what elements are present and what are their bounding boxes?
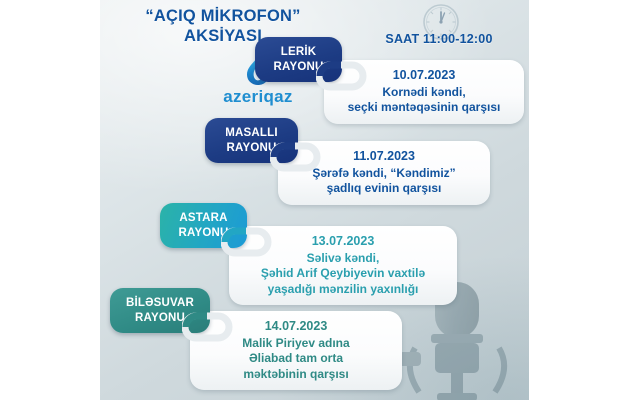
region-badge-lerik[interactable]: LERİK RAYONU [255, 37, 342, 82]
event-place-line: Səlivə kəndi, [239, 251, 447, 266]
event-place-line: Şəhid Arif Qeybiyevin vaxtilə [239, 266, 447, 281]
region-name-line1: LERİK [255, 45, 342, 59]
brand-wordmark: azeriqaz [203, 88, 313, 105]
title-line-1: “AÇIQ MİKROFON” [145, 7, 300, 25]
schedule-panel-astara: 13.07.2023 Səlivə kəndi, Şəhid Arif Qeyb… [229, 226, 457, 305]
region-badge-masalli[interactable]: MASALLI RAYONU [205, 118, 298, 163]
region-badge-bilesuvar[interactable]: BİLƏSUVAR RAYONU [110, 288, 210, 333]
region-name-line2: RAYONU [110, 311, 210, 325]
event-place-line: şadlıq evinin qarşısı [288, 181, 480, 196]
event-place-line: seçki məntəqəsinin qarşısı [334, 100, 514, 115]
poster-canvas: “AÇIQ MİKROFON” AKSİYASI azeriqaz SAAT 1… [100, 0, 529, 400]
event-place-line: yaşadığı mənzilin yaxınlığı [239, 282, 447, 297]
region-badge-astara[interactable]: ASTARA RAYONU [160, 203, 247, 248]
time-label: SAAT 11:00-12:00 [355, 32, 523, 46]
region-name-line2: RAYONU [255, 60, 342, 74]
event-place-line: məktəbinin qarşısı [200, 367, 392, 382]
schedule-panel-lerik: 10.07.2023 Kornədi kəndi, seçki məntəqəs… [324, 60, 524, 124]
event-place-line: Kornədi kəndi, [334, 85, 514, 100]
region-name-line1: BİLƏSUVAR [110, 296, 210, 310]
region-name-line1: MASALLI [205, 126, 298, 140]
region-name-line2: RAYONU [205, 141, 298, 155]
event-date: 14.07.2023 [200, 318, 392, 335]
poster-frame: “AÇIQ MİKROFON” AKSİYASI azeriqaz SAAT 1… [0, 0, 637, 400]
event-place-line: Əliabad tam orta [200, 351, 392, 366]
schedule-panel-bilesuvar: 14.07.2023 Malik Piriyev adına Əliabad t… [190, 311, 402, 390]
schedule-panel-masalli: 11.07.2023 Şərəfə kəndi, “Kəndimiz” şadl… [278, 141, 490, 205]
event-date: 11.07.2023 [288, 148, 480, 165]
event-date: 13.07.2023 [239, 233, 447, 250]
event-date: 10.07.2023 [334, 67, 514, 84]
region-name-line2: RAYONU [160, 226, 247, 240]
event-place-line: Malik Piriyev adına [200, 336, 392, 351]
region-name-line1: ASTARA [160, 211, 247, 225]
event-place-line: Şərəfə kəndi, “Kəndimiz” [288, 166, 480, 181]
